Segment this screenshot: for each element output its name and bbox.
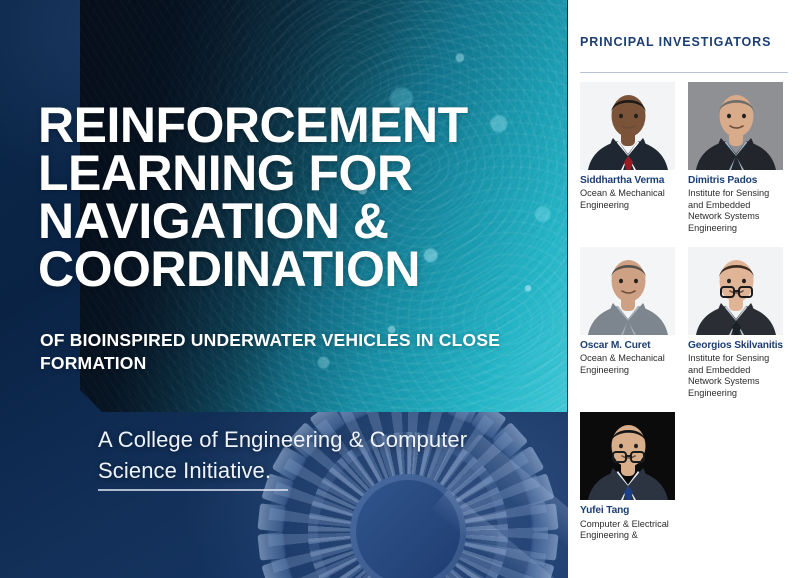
portrait-georgios-skilvanitis [688,247,783,335]
portrait-oscar-m-curet [580,247,675,335]
pi-department: Ocean & Mechanical Engineering [580,188,675,211]
pi-row: Siddhartha VermaOcean & Mechanical Engin… [580,82,792,234]
pi-heading-divider [580,72,788,73]
pi-row: Oscar M. CuretOcean & Mechanical Enginee… [580,247,792,399]
portrait-yufei-tang [580,412,675,500]
pi-name: Oscar M. Curet [580,340,675,352]
pi-department: Ocean & Mechanical Engineering [580,353,675,376]
pi-grid: Siddhartha VermaOcean & Mechanical Engin… [580,82,792,542]
pi-card[interactable]: Dimitris PadosInstitute for Sensing and … [688,82,783,234]
portrait-dimitris-pados [688,82,783,170]
pi-card[interactable]: Oscar M. CuretOcean & Mechanical Enginee… [580,247,675,399]
pi-card[interactable]: Yufei TangComputer & Electrical Engineer… [580,412,675,541]
pi-row: Yufei TangComputer & Electrical Engineer… [580,412,792,541]
pi-name: Yufei Tang [580,505,675,517]
pi-name: Georgios Skilvanitis [688,340,783,352]
poster-tagline: A College of Engineering & Computer Scie… [98,424,528,486]
pi-department: Computer & Electrical Engineering & [580,519,675,542]
pi-card[interactable]: Georgios SkilvanitisInstitute for Sensin… [688,247,783,399]
portrait-siddhartha-verma [580,82,675,170]
pi-name: Dimitris Pados [688,175,783,187]
pi-department: Institute for Sensing and Embedded Netwo… [688,188,783,234]
pi-heading: Principal Investigators [580,34,780,52]
principal-investigators-panel: Principal Investigators Siddhartha Verma… [568,0,800,578]
pi-department: Institute for Sensing and Embedded Netwo… [688,353,783,399]
poster-subtitle: Of Bioinspired Underwater Vehicles in Cl… [40,329,540,375]
poster-panel: Reinforcement Learning for Navigation & … [0,0,568,578]
pi-name: Siddhartha Verma [580,175,675,187]
poster-text-block: Reinforcement Learning for Navigation & … [0,0,568,578]
pi-card[interactable]: Siddhartha VermaOcean & Mechanical Engin… [580,82,675,234]
tagline-divider [98,489,288,491]
page-title: Reinforcement Learning for Navigation & … [38,101,558,293]
